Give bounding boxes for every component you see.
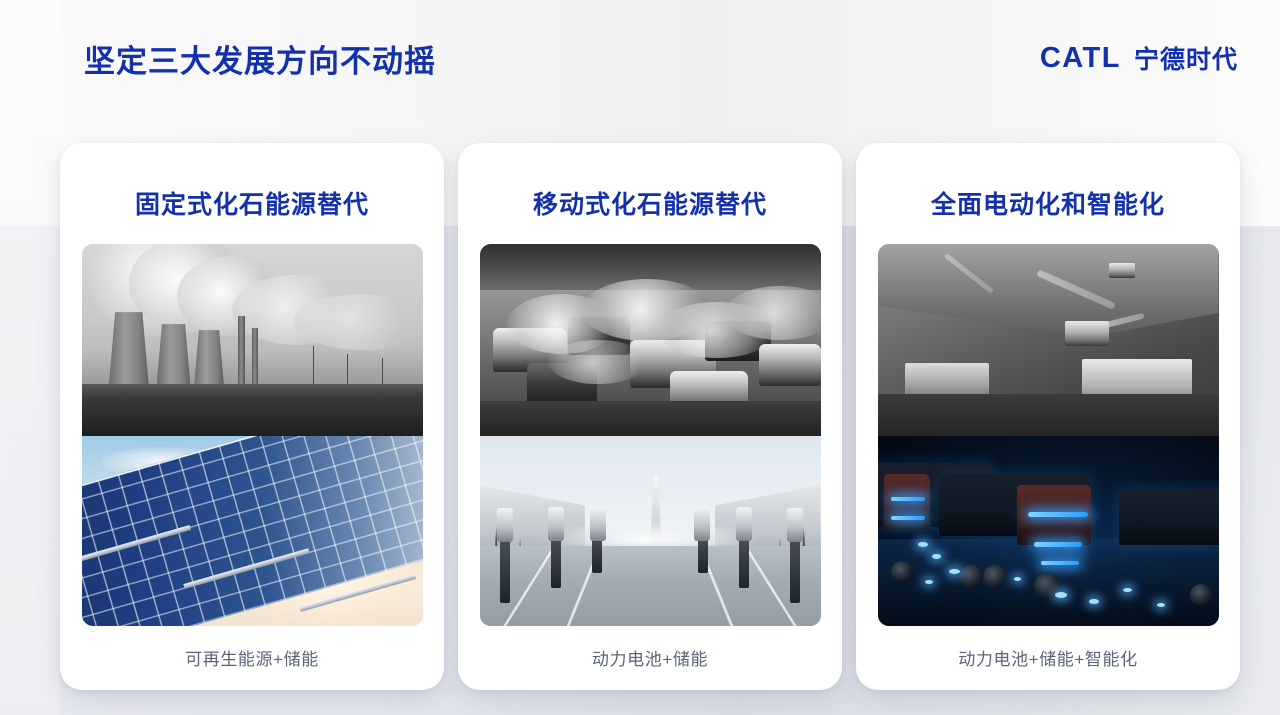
electric-trucks-photo (878, 436, 1219, 626)
card-caption: 可再生能源+储能 (185, 645, 319, 670)
card-mobile-fossil-replacement[interactable]: 移动式化石能源替代 (458, 143, 842, 690)
card-caption: 动力电池+储能 (592, 645, 708, 670)
ev-charging-plaza-photo (480, 436, 821, 626)
card-full-electrification[interactable]: 全面电动化和智能化 (856, 143, 1240, 690)
card-caption: 动力电池+储能+智能化 (958, 645, 1137, 670)
card-title: 固定式化石能源替代 (135, 185, 369, 221)
logo-chinese-wordmark: 宁德时代 (1134, 40, 1238, 76)
smokestack-photo (82, 244, 423, 436)
slide-header: 坚定三大发展方向不动摇 CATL 宁德时代 (0, 0, 1280, 118)
card-media (480, 244, 821, 626)
card-fixed-fossil-replacement[interactable]: 固定式化石能源替代 (60, 143, 444, 690)
logo-latin-wordmark: CATL (1040, 42, 1121, 75)
card-media (82, 244, 423, 626)
cards-row: 固定式化石能源替代 (0, 143, 1280, 691)
page-title: 坚定三大发展方向不动摇 (84, 36, 436, 81)
solar-panel-photo (82, 436, 423, 626)
open-pit-mine-photo (878, 244, 1219, 436)
catl-logo: CATL 宁德时代 (1040, 40, 1238, 76)
card-title: 移动式化石能源替代 (533, 185, 767, 221)
card-title: 全面电动化和智能化 (931, 185, 1165, 221)
traffic-smog-photo (480, 244, 821, 436)
card-media (878, 244, 1219, 626)
